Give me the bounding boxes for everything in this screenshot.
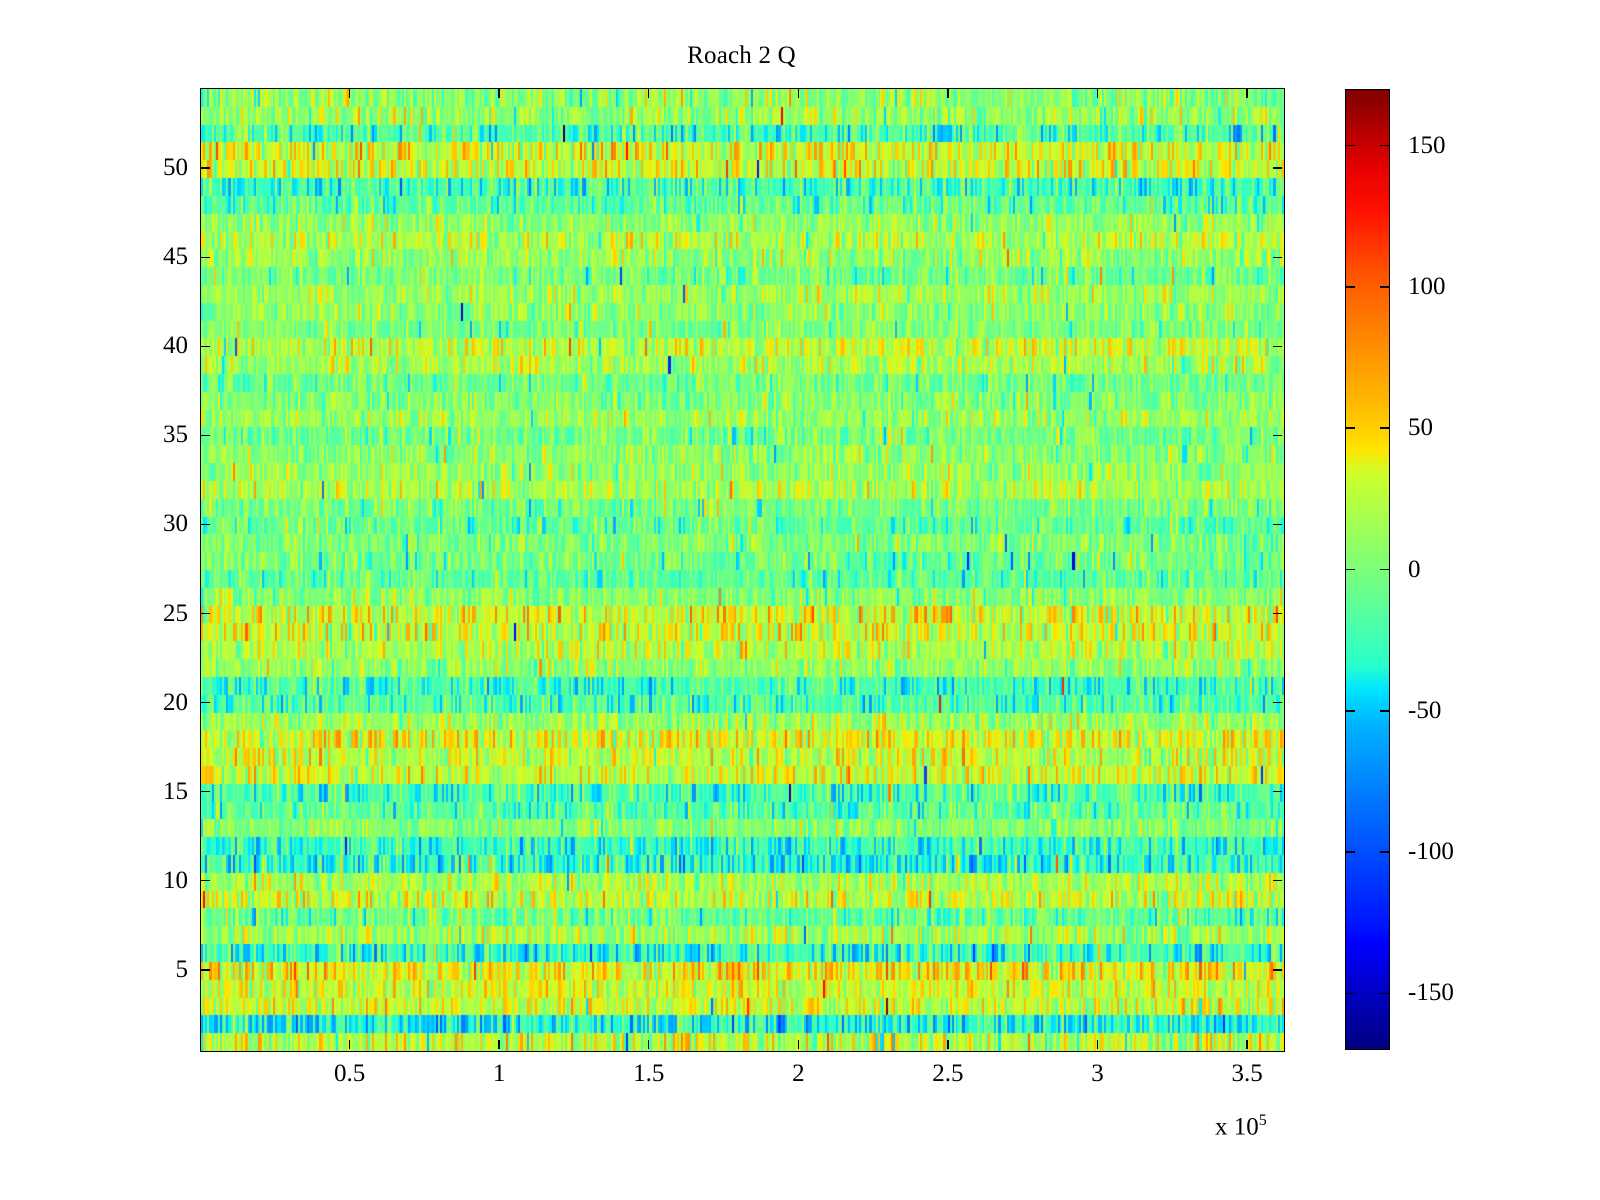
- heatmap-image: [201, 89, 1284, 1051]
- x-tick-label-3.5: 3.5: [1231, 1060, 1262, 1088]
- y-tick-left-10: [201, 880, 210, 881]
- x-tick-top-3.5: [1246, 89, 1247, 98]
- colorbar-tick-right--100: [1380, 851, 1389, 852]
- y-tick-right-20: [1273, 702, 1282, 703]
- y-tick-right-45: [1273, 257, 1282, 258]
- x-tick-label-2: 2: [792, 1060, 805, 1088]
- y-tick-label-30: 30: [163, 510, 188, 538]
- y-tick-left-15: [201, 791, 210, 792]
- y-tick-left-25: [201, 613, 210, 614]
- y-tick-label-5: 5: [176, 956, 189, 984]
- colorbar-tick-label-100: 100: [1408, 273, 1446, 301]
- colorbar-tick-right--150: [1380, 993, 1389, 994]
- y-tick-left-5: [201, 969, 210, 970]
- x-tick-label-2.5: 2.5: [932, 1060, 963, 1088]
- y-tick-right-30: [1273, 524, 1282, 525]
- y-tick-right-10: [1273, 880, 1282, 881]
- x-tick-label-1.5: 1.5: [633, 1060, 664, 1088]
- colorbar-tick-label--50: -50: [1408, 697, 1441, 725]
- y-tick-label-35: 35: [163, 421, 188, 449]
- colorbar-tick-label-150: 150: [1408, 132, 1446, 160]
- colorbar-tick-right--50: [1380, 710, 1389, 711]
- x-tick-bottom-2.5: [947, 1040, 948, 1049]
- page-title: Roach 2 Q: [0, 42, 1483, 70]
- y-tick-left-50: [201, 167, 210, 168]
- x-tick-label-0.5: 0.5: [334, 1060, 365, 1088]
- x-tick-top-2: [798, 89, 799, 98]
- colorbar-tick-label--150: -150: [1408, 979, 1454, 1007]
- figure-canvas: Roach 2 Q 51015202530354045500.511.522.5…: [0, 0, 1600, 1200]
- x-tick-top-0.5: [349, 89, 350, 98]
- y-tick-right-50: [1273, 167, 1282, 168]
- y-tick-left-35: [201, 435, 210, 436]
- x-tick-top-3: [1097, 89, 1098, 98]
- colorbar-tick-right-0: [1380, 569, 1389, 570]
- x-tick-bottom-2: [798, 1040, 799, 1049]
- colorbar-tick-left--50: [1346, 710, 1355, 711]
- y-tick-left-45: [201, 257, 210, 258]
- colorbar-tick-left-50: [1346, 427, 1355, 428]
- x-tick-bottom-3.5: [1246, 1040, 1247, 1049]
- y-tick-left-30: [201, 524, 210, 525]
- x-tick-bottom-0.5: [349, 1040, 350, 1049]
- x-exponent-base: x 10: [1215, 1113, 1259, 1140]
- colorbar-tick-right-50: [1380, 427, 1389, 428]
- heatmap-axes[interactable]: [200, 88, 1285, 1052]
- colorbar-tick-left-100: [1346, 286, 1355, 287]
- colorbar-tick-label--100: -100: [1408, 838, 1454, 866]
- y-tick-left-20: [201, 702, 210, 703]
- y-tick-label-15: 15: [163, 778, 188, 806]
- y-tick-right-40: [1273, 346, 1282, 347]
- colorbar-tick-left--150: [1346, 993, 1355, 994]
- x-tick-label-3: 3: [1091, 1060, 1104, 1088]
- x-tick-label-1: 1: [493, 1060, 506, 1088]
- y-tick-label-50: 50: [163, 154, 188, 182]
- y-tick-right-35: [1273, 435, 1282, 436]
- colorbar-tick-left-150: [1346, 145, 1355, 146]
- x-tick-bottom-1.5: [648, 1040, 649, 1049]
- x-tick-top-2.5: [947, 89, 948, 98]
- y-tick-label-25: 25: [163, 600, 188, 628]
- y-tick-label-45: 45: [163, 243, 188, 271]
- x-exponent-power: 5: [1259, 1112, 1267, 1129]
- y-tick-label-10: 10: [163, 867, 188, 895]
- y-tick-right-25: [1273, 613, 1282, 614]
- y-tick-left-40: [201, 346, 210, 347]
- x-tick-top-1.5: [648, 89, 649, 98]
- colorbar-tick-label-50: 50: [1408, 414, 1433, 442]
- y-tick-right-15: [1273, 791, 1282, 792]
- colorbar-tick-left--100: [1346, 851, 1355, 852]
- y-tick-label-20: 20: [163, 689, 188, 717]
- x-axis-exponent-label: x 105: [1215, 1112, 1267, 1141]
- y-tick-right-5: [1273, 969, 1282, 970]
- colorbar-tick-right-100: [1380, 286, 1389, 287]
- colorbar-tick-right-150: [1380, 145, 1389, 146]
- y-tick-label-40: 40: [163, 332, 188, 360]
- x-tick-top-1: [498, 89, 499, 98]
- x-tick-bottom-3: [1097, 1040, 1098, 1049]
- colorbar-tick-label-0: 0: [1408, 556, 1421, 584]
- colorbar-tick-left-0: [1346, 569, 1355, 570]
- x-tick-bottom-1: [498, 1040, 499, 1049]
